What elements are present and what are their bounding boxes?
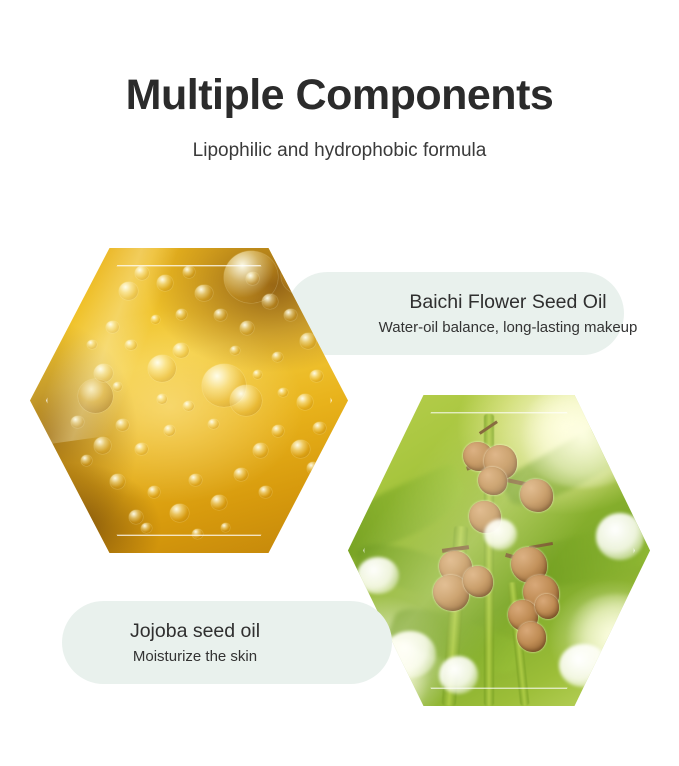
ingredient-benefit: Water-oil balance, long-lasting makeup: [379, 319, 638, 336]
ingredient-name: Baichi Flower Seed Oil: [409, 291, 606, 313]
jojoba-plant-hexagon-image: [348, 395, 650, 706]
page-title: Multiple Components: [0, 72, 679, 118]
ingredient-label-jojoba-seed-oil: Jojoba seed oil Moisturize the skin: [62, 601, 392, 684]
header: Multiple Components Lipophilic and hydro…: [0, 0, 679, 162]
ingredient-benefit: Moisturize the skin: [133, 648, 257, 665]
ingredient-name: Jojoba seed oil: [130, 620, 260, 642]
ingredient-label-baichi-flower-seed-oil: Baichi Flower Seed Oil Water-oil balance…: [286, 272, 624, 355]
product-ingredients-infographic: Multiple Components Lipophilic and hydro…: [0, 0, 679, 766]
page-subtitle: Lipophilic and hydrophobic formula: [0, 140, 679, 162]
oil-bubble: [307, 462, 320, 474]
